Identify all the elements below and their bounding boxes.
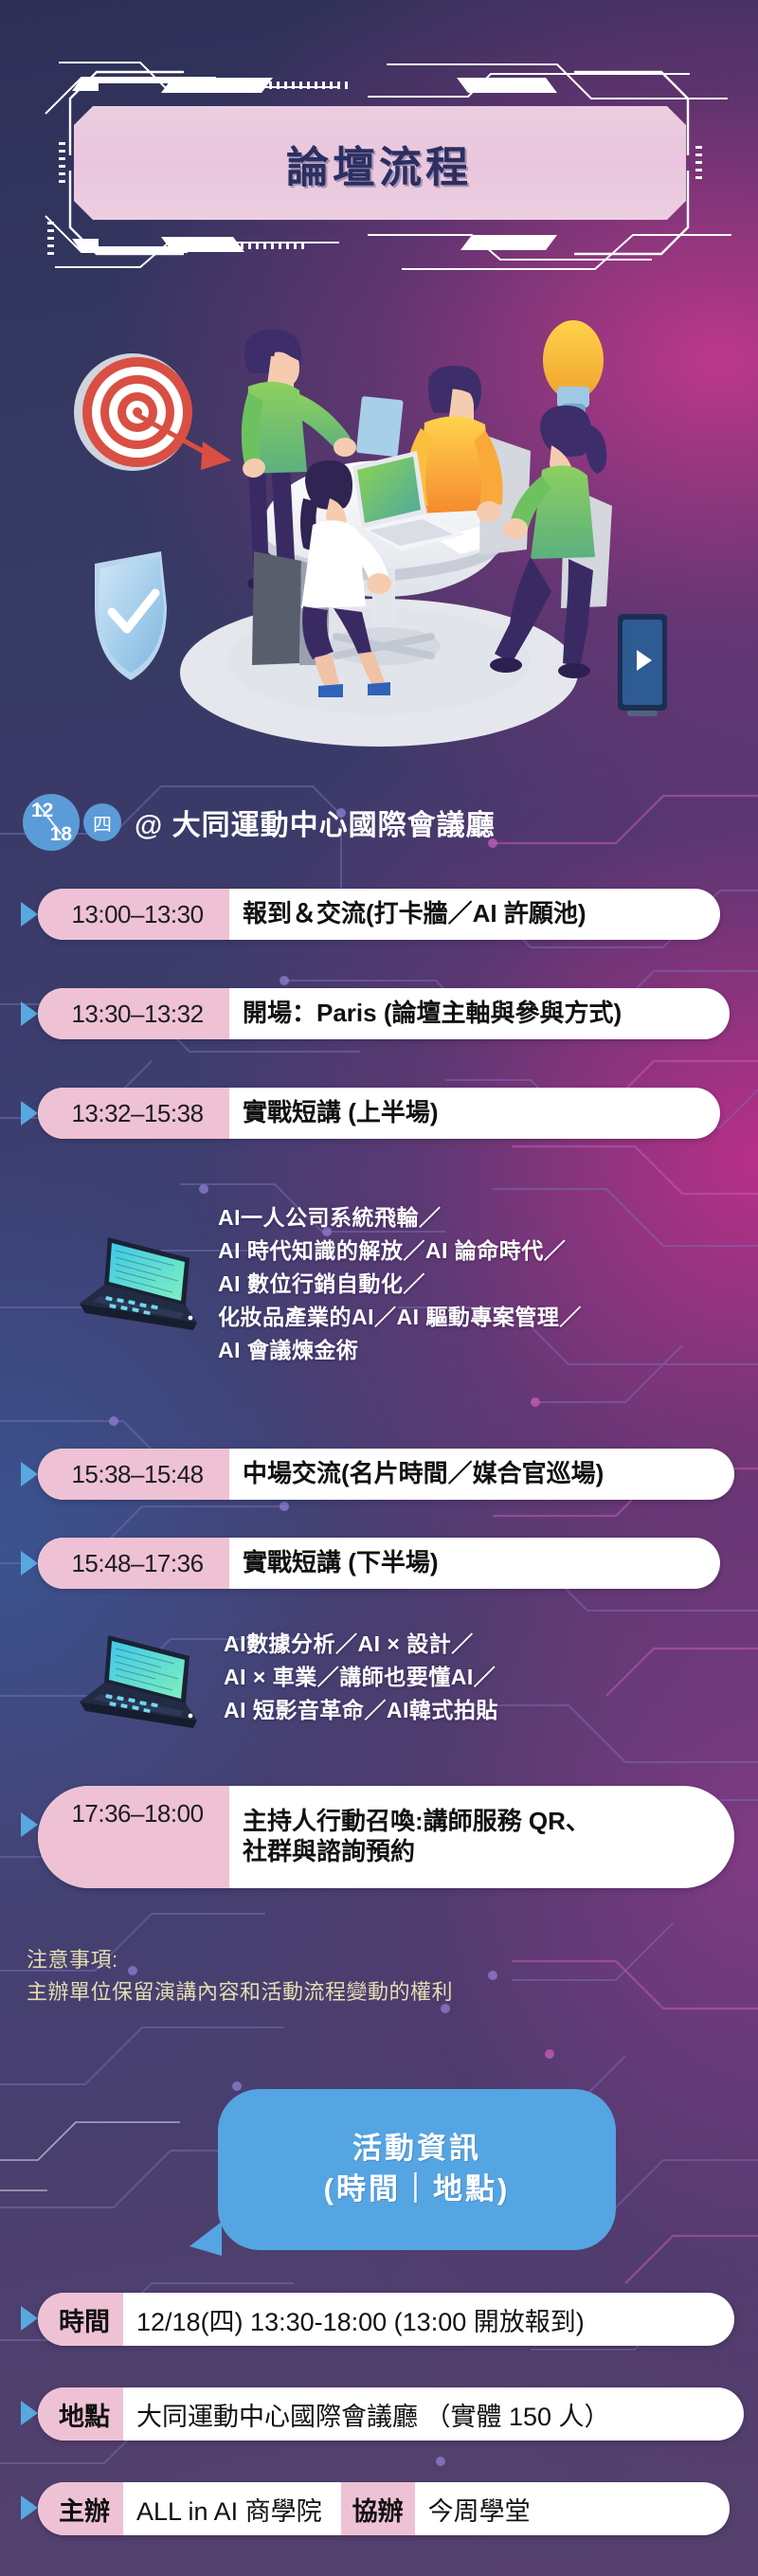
schedule-row[interactable]: 13:30–13:32 開場：Paris (論壇主軸與參與方式) — [38, 988, 730, 1039]
schedule-time: 13:32–15:38 — [38, 1088, 229, 1139]
laptop-icon — [68, 1630, 201, 1748]
info-bubble: 活動資訊 (時間｜地點) — [218, 2089, 616, 2250]
schedule-label: 實戰短講 (下半場) — [229, 1538, 460, 1589]
schedule-time: 13:00–13:30 — [38, 889, 229, 940]
topics-second-half: AI數據分析／AI × 設計／ AI × 車業／講師也要懂AI／ AI 短影音革… — [224, 1628, 754, 1727]
date-badge: 12 18 — [23, 794, 80, 851]
dartboard-icon — [74, 353, 231, 471]
topic-line: AI 短影音革命／AI韓式拍貼 — [224, 1694, 754, 1727]
topic-line: AI 數位行銷自動化／ — [218, 1268, 749, 1301]
notice-heading: 注意事項: — [27, 1944, 728, 1976]
organizer-row[interactable]: 主辦 ALL in AI 商學院 協辦 今周學堂 — [38, 2482, 730, 2535]
schedule-time: 13:30–13:32 — [38, 988, 229, 1039]
info-row-place[interactable]: 地點 大同運動中心國際會議廳 （實體 150 人） — [38, 2387, 744, 2441]
row-arrow-icon — [21, 1812, 38, 1837]
schedule-time: 15:48–17:36 — [38, 1538, 229, 1589]
topic-line: AI 會議煉金術 — [218, 1334, 749, 1367]
schedule-label: 開場：Paris (論壇主軸與參與方式) — [229, 988, 642, 1039]
schedule-row[interactable]: 13:00–13:30 報到＆交流(打卡牆／AI 許願池) — [38, 889, 720, 940]
organizer-tag: 主辦 — [38, 2482, 123, 2535]
weekday-badge: 四 — [83, 803, 121, 841]
venue-label: @ 大同運動中心國際會議廳 — [135, 802, 496, 843]
co-organizer-tag: 協辦 — [341, 2482, 415, 2535]
laptop-icon — [68, 1232, 201, 1350]
schedule-row[interactable]: 15:48–17:36 實戰短講 (下半場) — [38, 1538, 720, 1589]
shield-icon — [95, 551, 167, 680]
meeting-illustration — [0, 275, 758, 767]
schedule-time: 17:36–18:00 — [38, 1786, 229, 1888]
row-arrow-icon — [21, 1101, 38, 1126]
co-organizer-value: 今周學堂 — [415, 2482, 550, 2535]
schedule-label: 主持人行動召喚:講師服務 QR、 社群與諮詢預約 — [229, 1786, 611, 1888]
row-arrow-icon — [21, 1001, 38, 1026]
notice-block: 注意事項: 主辦單位保留演講內容和活動流程變動的權利 — [27, 1944, 728, 2009]
date-venue-row: 12 18 四 @ 大同運動中心國際會議廳 — [23, 794, 496, 851]
schedule-row[interactable]: 17:36–18:00 主持人行動召喚:講師服務 QR、 社群與諮詢預約 — [38, 1786, 734, 1888]
topic-line: AI 時代知識的解放／AI 論命時代／ — [218, 1234, 749, 1268]
organizer-value: ALL in AI 商學院 — [123, 2482, 341, 2535]
info-row-tag: 地點 — [38, 2387, 123, 2441]
info-row-tag: 時間 — [38, 2293, 123, 2346]
topics-first-half: AI一人公司系統飛輪／ AI 時代知識的解放／AI 論命時代／ AI 數位行銷自… — [218, 1201, 749, 1367]
info-row-value: 12/18(四) 13:30-18:00 (13:00 開放報到) — [123, 2293, 604, 2346]
page-title: 論壇流程 — [27, 106, 731, 220]
info-row-value: 大同運動中心國際會議廳 （實體 150 人） — [123, 2387, 629, 2441]
schedule-label: 中場交流(名片時間／媒合官巡場) — [229, 1449, 624, 1500]
date-day: 18 — [50, 823, 72, 846]
schedule-time: 15:38–15:48 — [38, 1449, 229, 1500]
schedule-row[interactable]: 15:38–15:48 中場交流(名片時間／媒合官巡場) — [38, 1449, 734, 1500]
info-row-time[interactable]: 時間 12/18(四) 13:30-18:00 (13:00 開放報到) — [38, 2293, 734, 2346]
lightbulb-icon — [543, 320, 604, 416]
notice-body: 主辦單位保留演講內容和活動流程變動的權利 — [27, 1976, 728, 2009]
topic-line: AI × 車業／講師也要懂AI／ — [224, 1661, 754, 1694]
topic-line: AI數據分析／AI × 設計／ — [224, 1628, 754, 1661]
schedule-label: 報到＆交流(打卡牆／AI 許願池) — [229, 889, 607, 940]
topic-line: AI一人公司系統飛輪／ — [218, 1201, 749, 1234]
row-arrow-icon — [21, 2401, 38, 2425]
video-player-icon — [618, 614, 667, 716]
header-frame: 論壇流程 — [27, 55, 731, 271]
row-arrow-icon — [21, 1551, 38, 1576]
schedule-row[interactable]: 13:32–15:38 實戰短講 (上半場) — [38, 1088, 720, 1139]
row-arrow-icon — [21, 2495, 38, 2520]
row-arrow-icon — [21, 1462, 38, 1486]
schedule-label: 實戰短講 (上半場) — [229, 1088, 460, 1139]
row-arrow-icon — [21, 2306, 38, 2331]
info-bubble-line2: (時間｜地點) — [324, 2170, 511, 2210]
row-arrow-icon — [21, 902, 38, 927]
info-bubble-line1: 活動資訊 — [352, 2129, 481, 2170]
bubble-tail-icon — [189, 2222, 222, 2256]
poster-root: 論壇流程 — [0, 0, 758, 2576]
topic-line: 化妝品產業的AI／AI 驅動專案管理／ — [218, 1301, 749, 1334]
